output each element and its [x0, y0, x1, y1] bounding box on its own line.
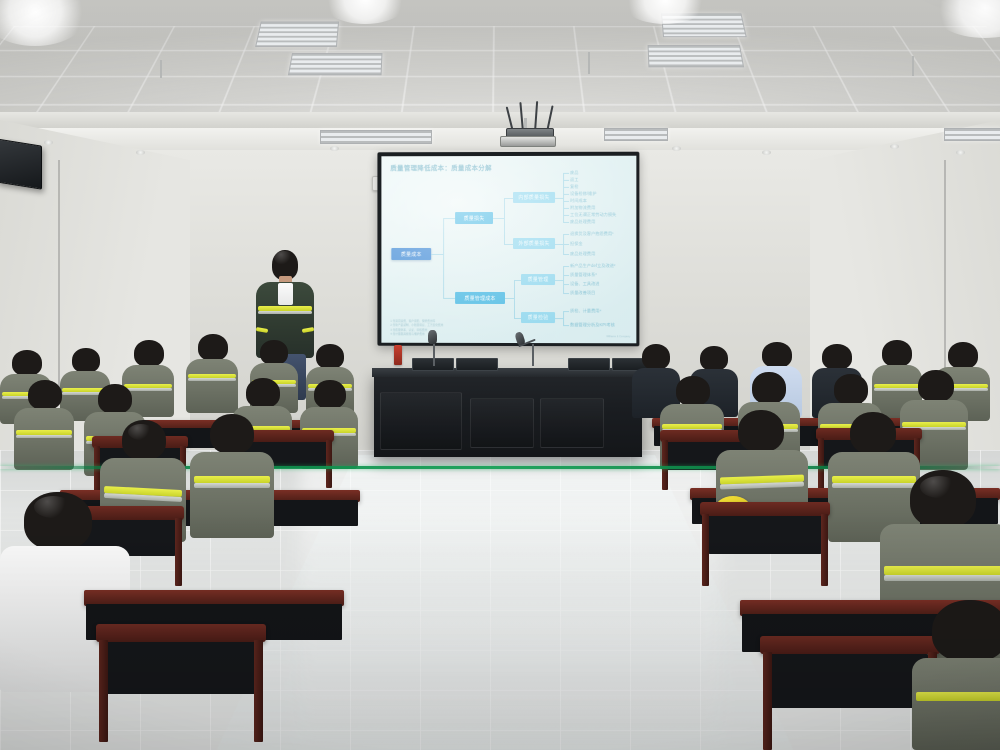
chair-backrest: [96, 624, 266, 642]
mindmap-connector: [563, 215, 569, 216]
soffit-air-vent: [944, 128, 1000, 141]
mindmap-connector: [563, 325, 569, 326]
mindmap-leaf: 复检: [570, 184, 578, 190]
podium-front-panel: [470, 398, 534, 448]
chair-leg: [702, 514, 709, 586]
chair-leg: [662, 440, 668, 490]
mindmap-connector: [563, 187, 569, 188]
audience-head: [752, 372, 786, 404]
mindmap-leaf: 废品: [570, 170, 578, 176]
audience-member: [912, 600, 1000, 750]
chair-leg: [175, 518, 182, 586]
recessed-downlight: [136, 150, 145, 155]
audience-head: [134, 340, 164, 367]
slide-title: 质量管理降低成本：质量成本分解: [390, 163, 492, 172]
ceiling-hanger-rod: [160, 60, 162, 78]
mindmap-leaf: 时间成本: [570, 198, 587, 204]
wall-speaker: [0, 138, 42, 189]
audience-head: [260, 340, 288, 365]
mindmap-connector: [563, 222, 569, 223]
presenter-reflective-stripe: [258, 311, 312, 314]
mindmap-connector: [563, 275, 569, 276]
audience-head: [834, 374, 868, 405]
mindmap-branch-node: 质量管理成本: [455, 292, 505, 304]
mindmap-leaf: 工位无谓正常劳动力损失: [570, 212, 616, 218]
audience-head: [762, 342, 792, 368]
mindmap-connector: [563, 284, 569, 285]
reflective-stripe: [194, 483, 270, 488]
mindmap-leaf: 新产品生产def立及改进²: [570, 263, 615, 269]
mindmap-connector: [443, 298, 455, 299]
mindmap-sub-node: 内部质量损失: [513, 192, 555, 203]
floor-sheen: [300, 460, 720, 750]
mindmap-connector: [563, 266, 564, 294]
audience-head: [822, 344, 852, 370]
chair-leg: [818, 438, 824, 490]
chair-back-panel: [708, 516, 822, 554]
hair-sheen: [34, 496, 72, 518]
chair-leg: [326, 440, 332, 488]
ceiling: [0, 0, 1000, 118]
recessed-downlight: [890, 144, 899, 149]
audience-head: [28, 380, 62, 410]
ceiling-air-vent: [288, 53, 383, 75]
recessed-downlight: [44, 140, 53, 145]
audience-uniform: [14, 408, 74, 470]
mindmap-leaf: 附加物流费用: [570, 205, 595, 211]
mindmap-root-node: 质量成本: [391, 248, 431, 260]
reflective-stripe: [188, 378, 236, 381]
audience-head: [198, 334, 228, 361]
reflective-stripe: [16, 435, 72, 438]
chair-leg: [763, 652, 772, 750]
microphone-stand: [532, 344, 534, 366]
mindmap-sub-node: 质量管理: [521, 274, 555, 285]
mindmap-connector: [555, 198, 563, 199]
audience-head: [246, 378, 280, 408]
mindmap-leaf: 质量改善项目: [570, 290, 595, 296]
audience-head: [98, 384, 132, 414]
audience-member: [186, 334, 238, 412]
recessed-downlight: [956, 150, 965, 155]
training-room-photo: 质量管理降低成本：质量成本分解 质量成本 质量损失 内部质量损失 废品 返工 复…: [0, 0, 1000, 750]
podium-nameplate: [456, 358, 498, 371]
projector-base: [500, 136, 556, 147]
audience-member: [14, 380, 74, 468]
mindmap-connector: [514, 318, 521, 319]
hair-sheen: [920, 476, 958, 498]
mindmap-connector: [563, 208, 569, 209]
mindmap-leaf: 退换货及客户抱怨费用¹: [570, 231, 614, 237]
audience-head: [316, 344, 344, 369]
mindmap-connector: [555, 318, 563, 319]
mindmap-branch-node: 质量损失: [455, 212, 493, 224]
projection-screen[interactable]: 质量管理降低成本：质量成本分解 质量成本 质量损失 内部质量损失 废品 返工 复…: [381, 156, 636, 344]
podium-front-panel: [540, 398, 604, 448]
presenter-hair-sheen: [274, 251, 294, 265]
reflective-stripe: [916, 692, 1000, 701]
chair-backrest: [700, 502, 830, 516]
mindmap-leaf: 设备检修/维护: [570, 191, 596, 197]
microphone-head: [428, 330, 437, 344]
hair-sheen: [128, 424, 154, 440]
audience-head: [932, 600, 1000, 662]
mindmap-connector: [563, 173, 569, 174]
audience-head: [314, 380, 346, 409]
audience-uniform: [186, 359, 238, 413]
audience-head: [850, 412, 896, 454]
presenter-inner-shirt: [278, 283, 293, 305]
ceiling-hanger-rod: [912, 56, 914, 76]
chair-leg: [99, 640, 108, 742]
ceiling-light-tint: [0, 0, 1000, 118]
chair-leg: [254, 640, 263, 742]
mindmap-connector: [563, 201, 569, 202]
audience-head: [918, 370, 954, 402]
podium-nameplate: [568, 358, 610, 371]
mindmap-leaf: 设备、工具改进: [570, 281, 599, 287]
mindmap-connector: [563, 311, 569, 312]
chair-back-panel: [106, 642, 256, 694]
audience-head: [642, 344, 670, 370]
audience-head: [948, 342, 978, 369]
recessed-downlight: [330, 146, 339, 151]
mindmap-leaf: 质检、计量费用⁴: [570, 308, 601, 314]
recessed-downlight: [672, 146, 681, 151]
mindmap-leaf: 数据管理分析及KPI考核: [570, 322, 615, 328]
chair: [96, 624, 266, 742]
mindmap-connector: [563, 244, 569, 245]
mindmap-connector: [563, 293, 569, 294]
chair-back-panel: [770, 654, 928, 708]
audience-head: [882, 340, 912, 367]
ceiling-beam: [0, 112, 1000, 128]
mindmap-sub-node: 外部质量损失: [513, 238, 555, 249]
mindmap-connector: [563, 234, 569, 235]
projection-screen-frame: 质量管理降低成本：质量成本分解 质量成本 质量损失 内部质量损失 废品 返工 复…: [377, 152, 639, 347]
mindmap-connector: [505, 298, 514, 299]
slide-credit: Williams & Company: [606, 335, 630, 338]
reflective-stripe: [884, 575, 1000, 581]
audience-head: [210, 414, 254, 454]
mindmap-connector: [555, 244, 563, 245]
mindmap-connector: [563, 254, 569, 255]
audience-uniform: [190, 452, 274, 538]
mindmap-connector: [431, 254, 443, 255]
reflective-stripe: [194, 476, 270, 483]
audience-head: [738, 410, 784, 452]
audience-head: [12, 350, 42, 376]
mindmap-leaf: 返工: [570, 177, 578, 183]
mindmap-connector: [443, 218, 444, 298]
podium-side-panel: [380, 392, 462, 450]
mindmap-leaf: 废品处理费用: [570, 251, 595, 257]
mindmap-connector: [504, 244, 513, 245]
mindmap-connector: [504, 198, 513, 199]
audience-head: [676, 376, 710, 406]
ceiling-hanger-rod: [588, 52, 590, 74]
soffit-air-vent: [320, 130, 432, 144]
mindmap-connector: [563, 194, 569, 195]
mindmap-connector: [443, 218, 455, 219]
audience-uniform: [912, 658, 1000, 750]
mindmap-connector: [504, 198, 505, 244]
reflective-stripe: [884, 566, 1000, 575]
chair-leg: [821, 514, 828, 586]
audience-member: [190, 414, 274, 536]
chair: [700, 502, 830, 586]
fire-extinguisher: [394, 345, 402, 365]
mindmap-sub-node: 质量检验: [521, 312, 555, 323]
mindmap-connector: [555, 280, 563, 281]
mindmap-connector: [563, 180, 569, 181]
mindmap-connector: [493, 218, 504, 219]
soffit-air-vent: [604, 128, 668, 141]
mindmap-leaf: 废品处理费用: [570, 219, 595, 225]
mindmap-leaf: 质量管理体系³: [570, 272, 597, 278]
mindmap-connector: [563, 311, 564, 325]
mindmap-connector: [563, 266, 569, 267]
recessed-downlight: [762, 150, 771, 155]
mindmap-connector: [514, 280, 521, 281]
mindmap-connector: [514, 280, 515, 318]
ceiling-air-vent: [255, 21, 339, 47]
audience-head: [700, 346, 728, 371]
audience-head: [72, 348, 100, 373]
ceiling-air-vent: [648, 45, 745, 67]
mindmap-leaf: 担保金: [570, 241, 583, 247]
